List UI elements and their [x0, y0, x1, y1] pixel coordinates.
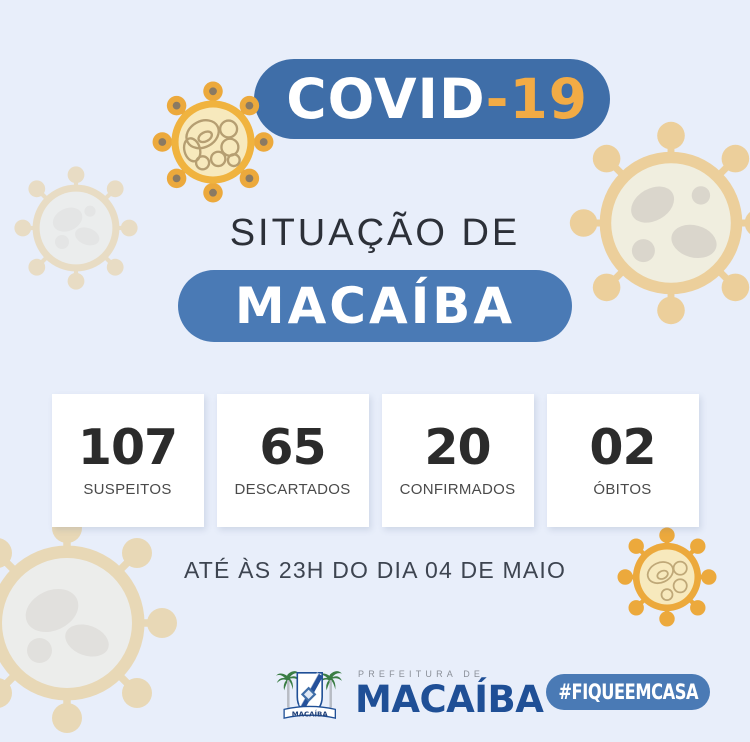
city-name-label: MACAÍBA: [235, 277, 515, 335]
covid-number: -19: [486, 67, 588, 131]
stat-card-descartados: 65 DESCARTADOS: [217, 394, 369, 527]
footer: MACAÍBA PREFEITURA DE MACAÍBA #FIQUEEMCA…: [0, 660, 750, 740]
stat-label: CONFIRMADOS: [400, 481, 516, 498]
city-name-pill: MACAÍBA: [178, 270, 572, 342]
coronavirus-icon: [148, 77, 278, 207]
coat-of-arms-icon: MACAÍBA: [272, 664, 346, 724]
stat-label: DESCARTADOS: [234, 481, 350, 498]
covid-badge-label: COVID-19: [254, 59, 610, 139]
stat-card-obitos: 02 ÓBITOS: [547, 394, 699, 527]
stat-value: 20: [424, 423, 490, 472]
stat-label: ÓBITOS: [593, 481, 651, 498]
stat-value: 02: [589, 423, 655, 472]
covid-word: COVID: [286, 67, 485, 131]
timestamp-text: ATÉ ÀS 23H DO DIA 04 DE MAIO: [0, 557, 750, 584]
stat-value: 65: [259, 423, 325, 472]
stat-label: SUSPEITOS: [83, 481, 171, 498]
org-name-label: MACAÍBA: [355, 681, 543, 718]
covid-header: COVID-19: [0, 44, 750, 169]
stat-card-confirmados: 20 CONFIRMADOS: [382, 394, 534, 527]
stats-row: 107 SUSPEITOS 65 DESCARTADOS 20 CONFIRMA…: [0, 394, 750, 527]
stat-value: 107: [78, 423, 177, 472]
prefeitura-logo: MACAÍBA PREFEITURA DE MACAÍBA: [272, 664, 543, 724]
hashtag-label: #FIQUEEMCASA: [558, 680, 698, 704]
svg-text:MACAÍBA: MACAÍBA: [292, 710, 329, 719]
covid-infographic-poster: COVID-19: [0, 0, 750, 742]
stat-card-suspeitos: 107 SUSPEITOS: [52, 394, 204, 527]
hashtag-badge: #FIQUEEMCASA: [546, 674, 710, 710]
subtitle-situacao: SITUAÇÃO DE: [0, 212, 750, 255]
